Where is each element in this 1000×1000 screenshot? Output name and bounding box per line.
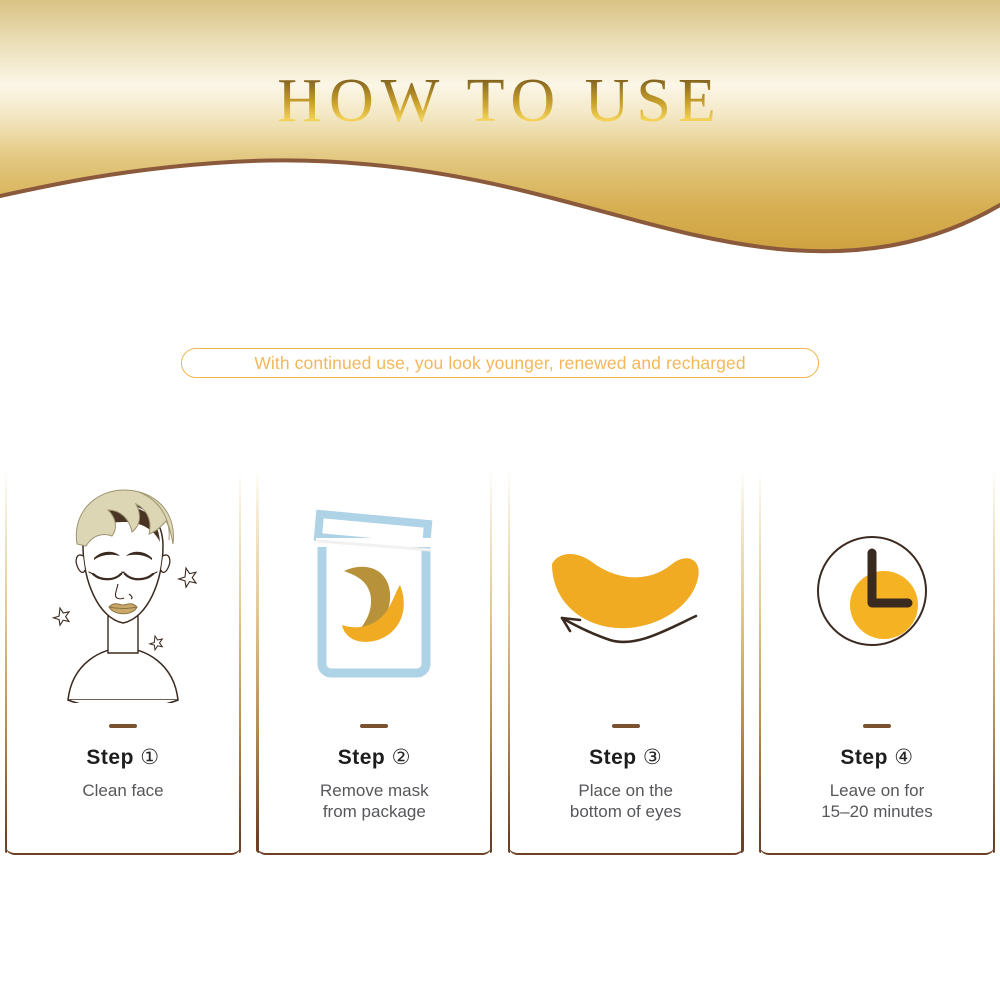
tagline-banner: With continued use, you look younger, re…	[181, 348, 819, 378]
step-divider-dash	[109, 724, 137, 728]
step-1-illustration	[5, 470, 241, 720]
arrow-head-icon	[562, 618, 580, 631]
step-word: Step	[589, 746, 637, 769]
header-banner: HOW TO USE	[0, 0, 1000, 262]
sparkle-icon	[178, 568, 195, 587]
eye-patch-arrow-icon	[536, 530, 716, 660]
step-2-description: Remove mask from package	[256, 780, 492, 822]
step-4-illustration	[759, 470, 995, 720]
eye-mask-package-icon	[304, 505, 444, 685]
step-word: Step	[840, 746, 888, 769]
step-1-description: Clean face	[5, 780, 241, 801]
step-3-description: Place on the bottom of eyes	[508, 780, 744, 822]
step-3-illustration	[508, 470, 744, 720]
sparkle-icon	[149, 636, 161, 650]
tagline-text: With continued use, you look younger, re…	[254, 353, 745, 374]
step-number: ②	[392, 746, 411, 769]
step-2-illustration	[256, 470, 492, 720]
step-3-label: Step ③	[508, 745, 744, 770]
face-with-hair-wrap-icon	[36, 488, 211, 703]
step-4-label: Step ④	[759, 745, 995, 770]
step-word: Step	[86, 746, 134, 769]
step-number: ③	[643, 746, 662, 769]
step-card-3: Step ③ Place on the bottom of eyes	[508, 470, 744, 855]
steps-container: Step ① Clean face Step ②	[5, 470, 995, 855]
step-card-2: Step ② Remove mask from package	[256, 470, 492, 855]
step-number: ①	[140, 746, 159, 769]
step-card-1: Step ① Clean face	[5, 470, 241, 855]
clock-icon	[814, 533, 939, 658]
step-word: Step	[338, 746, 386, 769]
sparkle-icon	[53, 608, 69, 625]
page-title: HOW TO USE	[0, 66, 1000, 137]
step-divider-dash	[360, 724, 388, 728]
step-divider-dash	[863, 724, 891, 728]
step-divider-dash	[612, 724, 640, 728]
step-4-description: Leave on for 15–20 minutes	[759, 780, 995, 822]
step-card-4: Step ④ Leave on for 15–20 minutes	[759, 470, 995, 855]
step-1-label: Step ①	[5, 745, 241, 770]
step-2-label: Step ②	[256, 745, 492, 770]
step-number: ④	[894, 746, 913, 769]
